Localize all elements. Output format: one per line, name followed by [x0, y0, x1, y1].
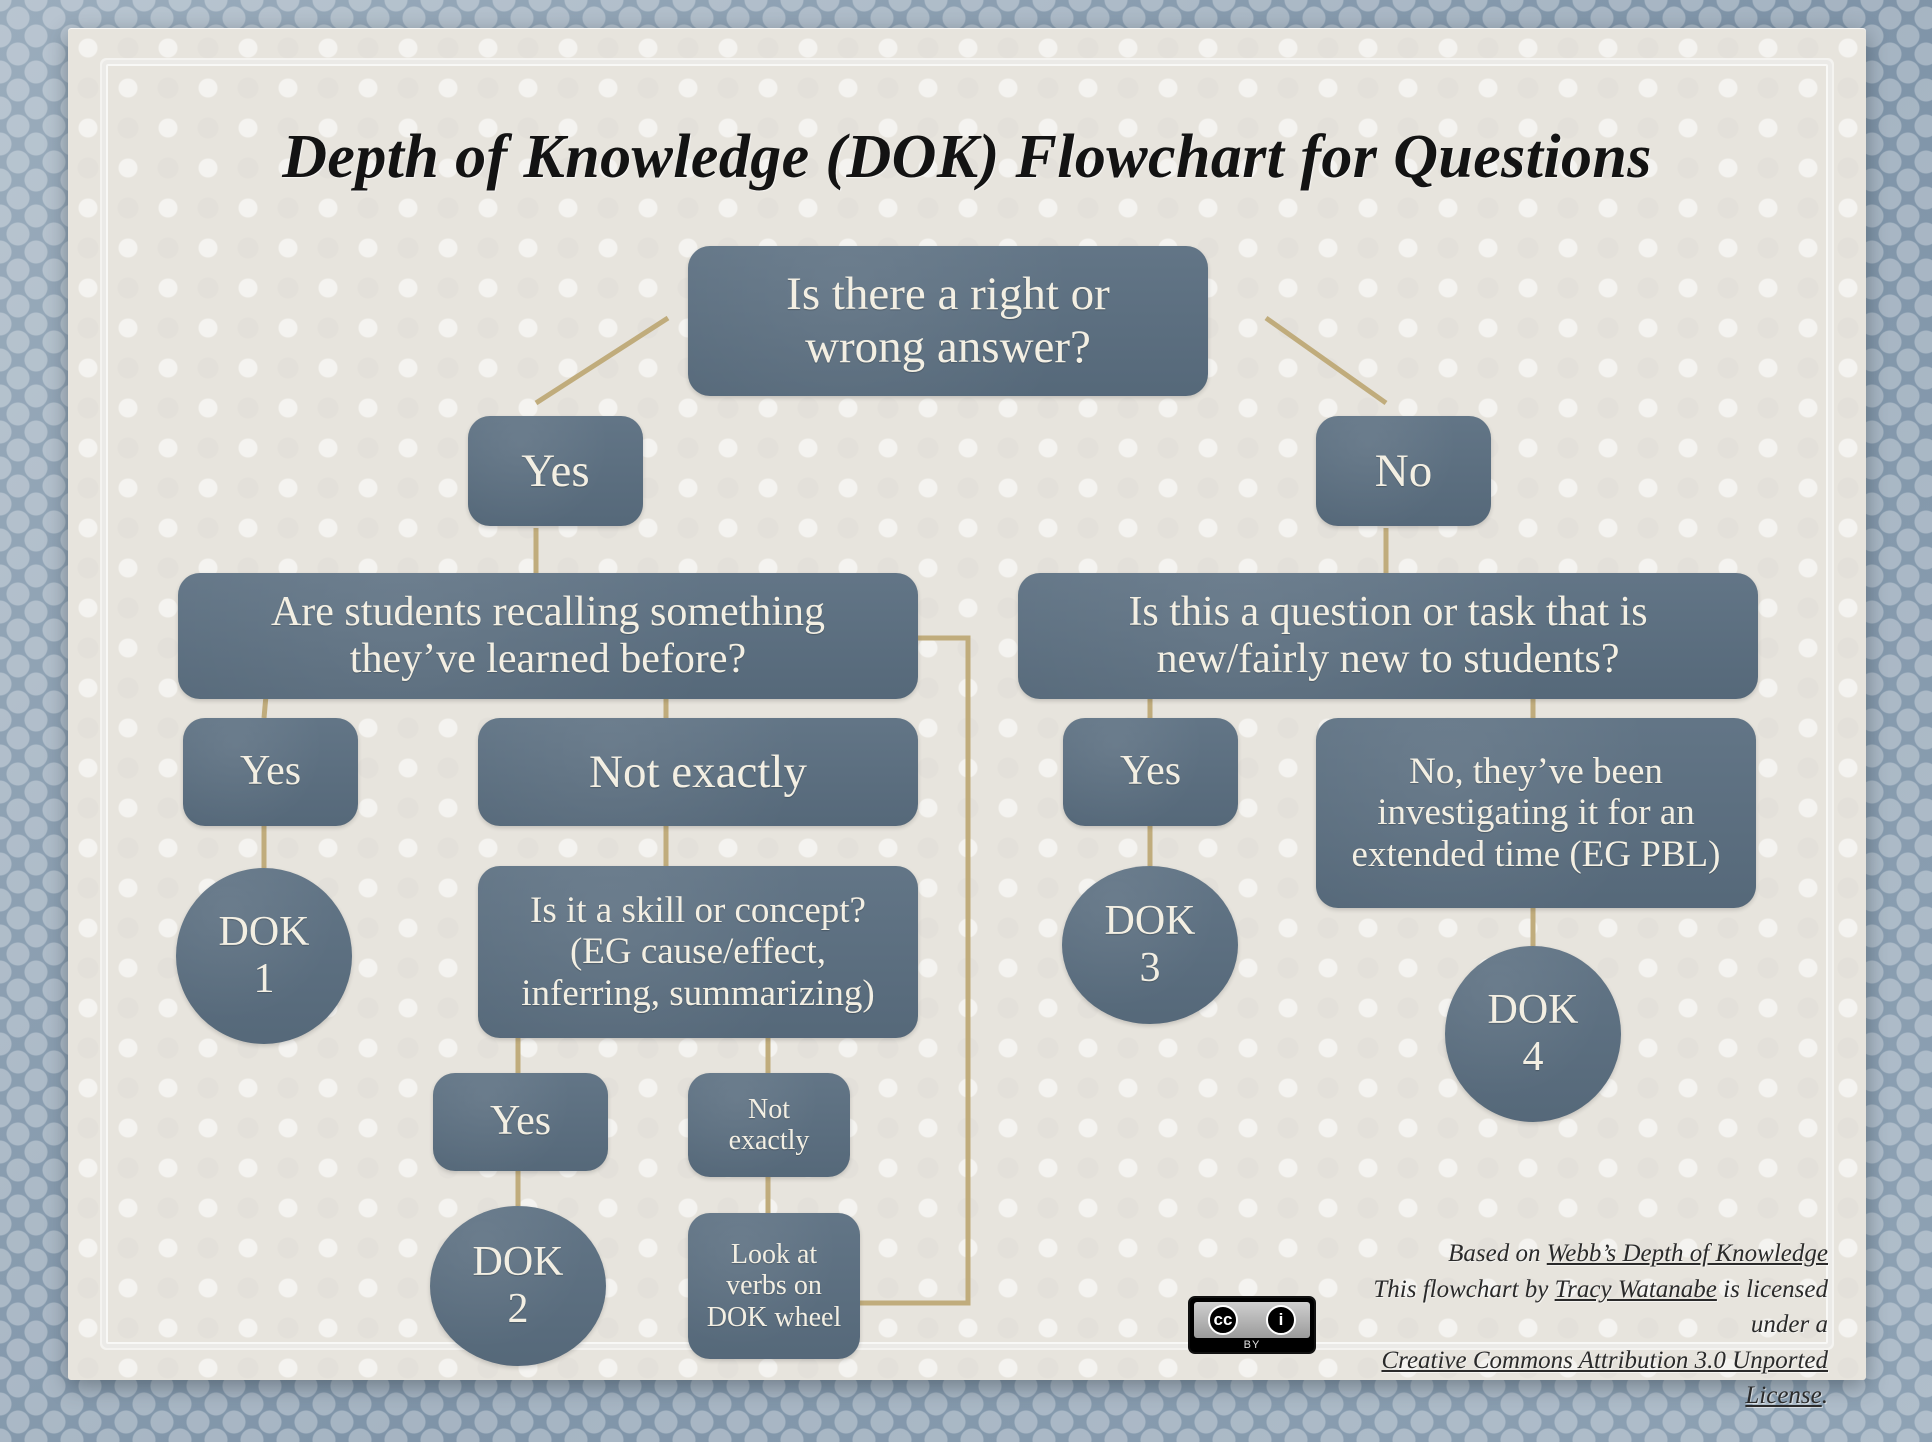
node-line: DOK — [176, 909, 352, 956]
node-line: extended time (EG PBL) — [1330, 834, 1742, 875]
node-line: wrong answer? — [702, 321, 1194, 374]
node-line: DOK wheel — [702, 1302, 846, 1333]
node-line: 2 — [430, 1286, 606, 1333]
node-line: No, they’ve been — [1330, 751, 1742, 792]
node-line: Are students recalling something — [192, 589, 904, 636]
webb-dok-link[interactable]: Webb’s Depth of Knowledge — [1547, 1240, 1828, 1267]
node-recalling-question[interactable]: Are students recalling something they’ve… — [178, 573, 918, 699]
node-recalling-yes[interactable]: Yes — [183, 718, 358, 826]
node-recalling-not-exactly[interactable]: Not exactly — [478, 718, 918, 826]
node-line: new/fairly new to students? — [1032, 636, 1744, 683]
attribution-text: Based on Webb’s Depth of Knowledge This … — [1338, 1236, 1828, 1414]
node-line: Look at — [702, 1239, 846, 1270]
node-line: No — [1330, 445, 1477, 498]
node-root-no[interactable]: No — [1316, 416, 1491, 526]
node-line: exactly — [702, 1125, 836, 1156]
node-line: Is it a skill or concept? — [492, 890, 904, 931]
node-line: Not — [702, 1094, 836, 1125]
cc-badge-strip: cc i — [1194, 1302, 1310, 1338]
attribution-line-1: Based on Webb’s Depth of Knowledge — [1338, 1236, 1828, 1272]
node-dok1[interactable]: DOK 1 — [176, 868, 352, 1044]
node-line: they’ve learned before? — [192, 636, 904, 683]
attribution-line2-prefix: This flowchart by — [1373, 1276, 1554, 1303]
wire-root-to-yes — [536, 318, 668, 403]
node-line: Is there a right or — [702, 268, 1194, 321]
connector-layer — [68, 28, 1866, 1380]
node-line: DOK — [1062, 898, 1238, 945]
node-look-at-verbs[interactable]: Look at verbs on DOK wheel — [688, 1213, 860, 1359]
node-skill-yes[interactable]: Yes — [433, 1073, 608, 1171]
node-skill-or-concept[interactable]: Is it a skill or concept? (EG cause/effe… — [478, 866, 918, 1038]
node-line: investigating it for an — [1330, 792, 1742, 833]
node-line: 3 — [1062, 945, 1238, 992]
cc-icon: cc — [1208, 1305, 1238, 1335]
node-line: inferring, summarizing) — [492, 973, 904, 1014]
node-new-question[interactable]: Is this a question or task that is new/f… — [1018, 573, 1758, 699]
node-new-yes[interactable]: Yes — [1063, 718, 1238, 826]
node-dok4[interactable]: DOK 4 — [1445, 946, 1621, 1122]
node-line: Not exactly — [492, 746, 904, 799]
attribution-line3-suffix: . — [1822, 1382, 1828, 1409]
node-line: 4 — [1445, 1034, 1621, 1081]
license-link[interactable]: Creative Commons Attribution 3.0 Unporte… — [1381, 1347, 1828, 1410]
node-line: Yes — [447, 1098, 594, 1145]
attribution-person-icon: i — [1266, 1305, 1296, 1335]
attribution-line-3: Creative Commons Attribution 3.0 Unporte… — [1338, 1343, 1828, 1414]
node-root-question[interactable]: Is there a right or wrong answer? — [688, 246, 1208, 396]
slide-canvas: Depth of Knowledge (DOK) Flowchart for Q… — [0, 0, 1932, 1442]
node-line: Yes — [1077, 748, 1224, 795]
node-line: verbs on — [702, 1270, 846, 1301]
page-title: Depth of Knowledge (DOK) Flowchart for Q… — [68, 122, 1866, 193]
node-dok2[interactable]: DOK 2 — [430, 1206, 606, 1366]
node-line: 1 — [176, 956, 352, 1003]
node-line: Yes — [482, 445, 629, 498]
node-skill-not-exactly[interactable]: Not exactly — [688, 1073, 850, 1177]
attribution-line2-suffix: is licensed under a — [1717, 1276, 1828, 1339]
node-line: Yes — [197, 748, 344, 795]
node-line: DOK — [430, 1239, 606, 1286]
node-line: DOK — [1445, 987, 1621, 1034]
node-dok3[interactable]: DOK 3 — [1062, 866, 1238, 1024]
node-line: Is this a question or task that is — [1032, 589, 1744, 636]
attribution-block: cc i BY Based on Webb’s Depth of Knowled… — [1188, 1236, 1828, 1414]
attribution-line-2: This flowchart by Tracy Watanabe is lice… — [1338, 1272, 1828, 1343]
node-root-yes[interactable]: Yes — [468, 416, 643, 526]
wire-root-to-no — [1266, 318, 1386, 403]
node-line: (EG cause/effect, — [492, 931, 904, 972]
node-new-no-investigating[interactable]: No, they’ve been investigating it for an… — [1316, 718, 1756, 908]
cc-badge-by-label: BY — [1190, 1339, 1314, 1351]
attribution-line1-prefix: Based on — [1448, 1240, 1547, 1267]
author-link[interactable]: Tracy Watanabe — [1555, 1276, 1717, 1303]
flowchart-card: Depth of Knowledge (DOK) Flowchart for Q… — [68, 28, 1866, 1380]
creative-commons-badge-icon: cc i BY — [1188, 1296, 1316, 1354]
